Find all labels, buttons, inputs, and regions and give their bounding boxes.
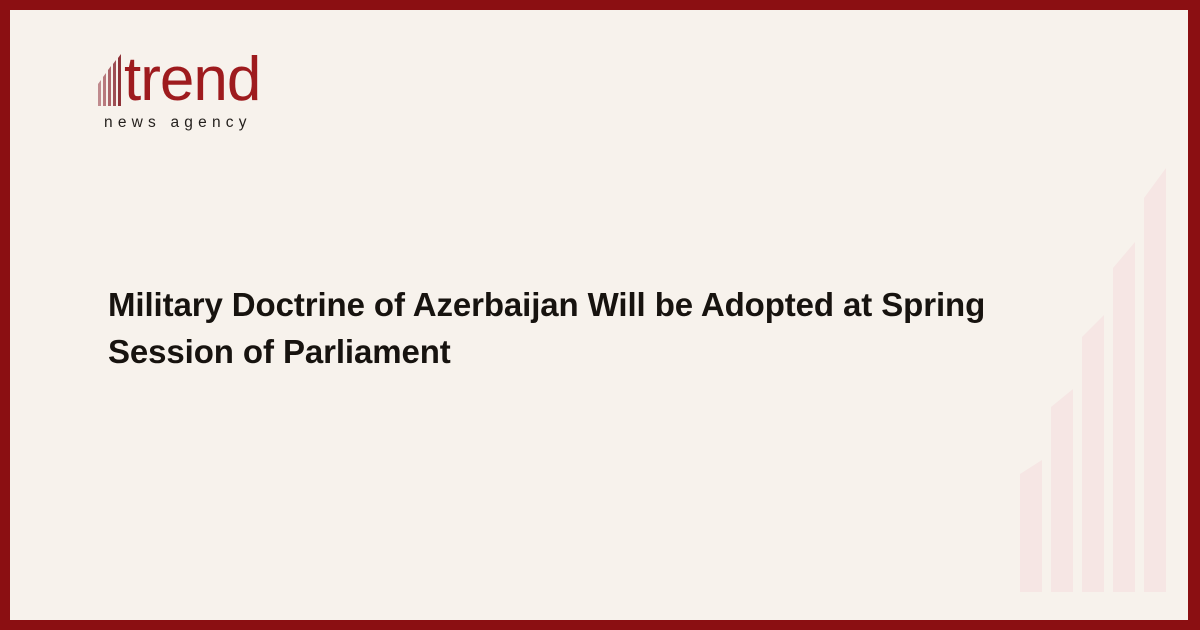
watermark-bar-3	[1082, 315, 1104, 592]
logo-tagline: news agency	[104, 114, 358, 132]
logo-bar-1	[98, 80, 101, 106]
watermark-bar-2	[1051, 389, 1073, 592]
logo-bar-3	[108, 66, 111, 106]
logo-bar-2	[103, 73, 106, 106]
card-canvas: trend news agency Military Doctrine of A…	[10, 10, 1188, 620]
watermark-bar-5	[1144, 168, 1166, 592]
ascending-bars-icon	[98, 54, 121, 106]
logo-wordmark-row: trend	[98, 46, 358, 108]
logo-bar-5	[118, 54, 121, 106]
social-share-card: trend news agency Military Doctrine of A…	[0, 0, 1200, 630]
ascending-bars-watermark-icon	[1020, 167, 1170, 592]
trend-news-agency-logo[interactable]: trend news agency	[98, 46, 358, 132]
page-title: Military Doctrine of Azerbaijan Will be …	[108, 282, 1008, 376]
logo-bar-4	[113, 60, 116, 106]
watermark-bar-1	[1020, 460, 1042, 592]
watermark-bar-4	[1113, 242, 1135, 592]
logo-wordmark: trend	[124, 51, 260, 108]
